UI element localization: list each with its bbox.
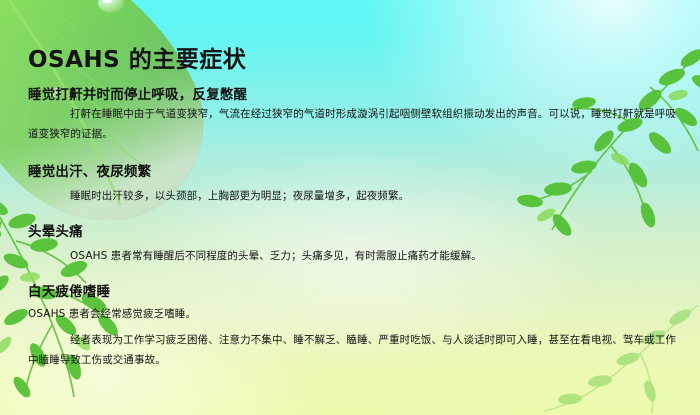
section-body-daytime-sleepiness-extra: 经者表现为工作学习疲乏困倦、注意力不集中、睡不解乏、瞌睡、严重时吃饭、与人谈话时… <box>28 330 676 370</box>
slide-title: OSAHS 的主要症状 <box>28 40 246 74</box>
presentation-slide: OSAHS 的主要症状 睡觉打鼾并时而停止呼吸，反复憋醒 打鼾在睡眠中由于气道变… <box>0 0 700 415</box>
section-body-sweating-nocturia: 睡眠时出汗较多，以头颈部，上胸部更为明显；夜尿量增多，起夜频繁。 <box>28 186 676 206</box>
section-body-snoring: 打鼾在睡眠中由于气道变狭窄，气流在经过狭窄的气道时形成漩涡引起咽侧壁软组织振动发… <box>28 104 676 144</box>
section-heading-daytime-sleepiness: 白天疲倦嗜睡 <box>28 280 110 300</box>
background-glow-top-right <box>360 0 700 180</box>
section-body-daytime-sleepiness: OSAHS 患者会经常感觉疲乏嗜睡。 <box>28 304 676 324</box>
section-heading-sweating-nocturia: 睡觉出汗、夜尿频繁 <box>28 160 151 180</box>
section-heading-dizziness-headache: 头晕头痛 <box>28 220 83 240</box>
section-body-dizziness-headache: OSAHS 患者常有睡醒后不同程度的头晕、乏力；头痛多见，有时需服止痛药才能缓解… <box>28 246 676 266</box>
section-heading-snoring: 睡觉打鼾并时而停止呼吸，反复憋醒 <box>28 83 247 103</box>
